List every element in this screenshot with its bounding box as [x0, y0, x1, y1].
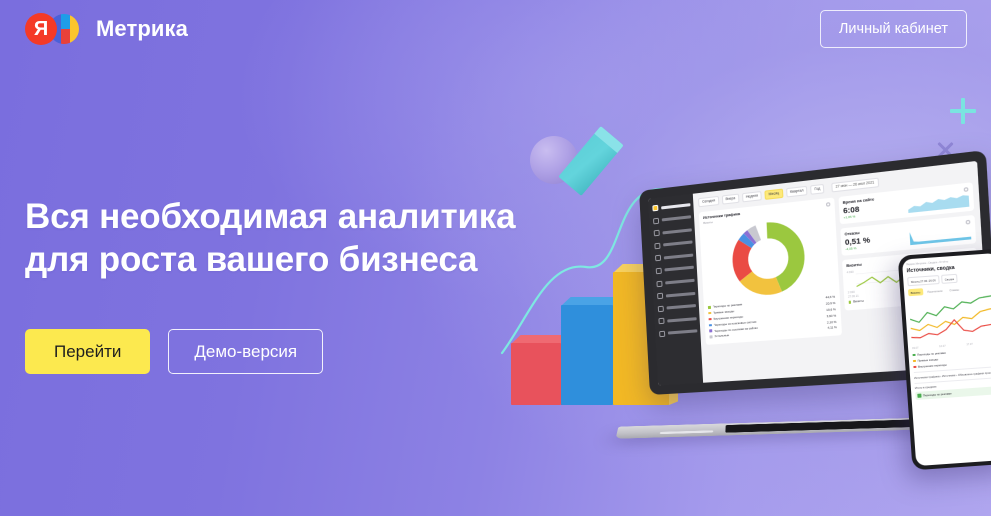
phone-tab-visits[interactable]: Визиты	[908, 288, 923, 296]
time-card-delta: +1,05 %	[843, 214, 859, 220]
goals-icon	[657, 293, 663, 300]
personal-cabinet-button[interactable]: Личный кабинет	[820, 10, 967, 48]
sidebar-item-settings[interactable]	[659, 328, 697, 337]
legend-color-swatch	[913, 360, 916, 363]
legend-color-swatch	[708, 312, 711, 315]
phone-body: Яндекс.Метрика › Сводка › Отчёты Источни…	[898, 249, 991, 471]
legend-color-swatch	[913, 366, 916, 369]
plus-mark-icon	[950, 98, 976, 124]
traffic-sources-card: Источники трафика Визиты	[699, 198, 842, 345]
date-range-picker[interactable]: 27 июн — 26 июл 2021	[831, 178, 879, 193]
traffic-legend: Переходы по рекламе 44,6 % Прямые заходы…	[708, 295, 837, 339]
summary-icon	[652, 205, 658, 212]
sidebar-item-segments[interactable]	[658, 303, 696, 312]
gear-icon	[659, 331, 665, 337]
period-tab-today[interactable]: Сегодня	[698, 196, 719, 208]
teal-block-shape-icon	[558, 126, 623, 196]
site-header: Я Метрика Личный кабинет	[0, 0, 991, 58]
sidebar-item-forms[interactable]	[655, 252, 693, 262]
phone-date-control[interactable]: Месяц 27.06–26.06	[907, 275, 939, 286]
go-button[interactable]: Перейти	[25, 329, 150, 374]
phone-tab-visitors[interactable]: Посетители	[925, 287, 946, 295]
yandex-ya-icon: Я	[25, 13, 57, 45]
visits-card-title: Визиты	[846, 263, 862, 269]
legend-color-swatch	[709, 335, 712, 338]
sphere-shape-icon	[530, 136, 578, 184]
headline-line-2: для роста вашего бизнеса	[25, 239, 515, 282]
bar-blue	[561, 305, 613, 405]
sidebar-item-summary[interactable]	[652, 201, 690, 211]
bar-red	[511, 343, 561, 405]
donut-chart	[704, 215, 835, 301]
period-tab-year[interactable]: Год	[810, 184, 825, 195]
phone-screen: Яндекс.Метрика › Сводка › Отчёты Источни…	[902, 253, 991, 466]
bounce-card-delta: -4,05 %	[845, 245, 870, 252]
forms-icon	[655, 255, 661, 262]
hero-copy: Вся необходимая аналитика для роста ваше…	[25, 196, 515, 374]
headline-line-1: Вся необходимая аналитика	[25, 197, 515, 236]
phone-view-control[interactable]: Сводка	[941, 274, 958, 284]
integrations-icon	[658, 318, 664, 324]
laptop-trackpad	[659, 430, 713, 434]
phone-line-chart	[909, 293, 991, 341]
demo-version-button[interactable]: Демо-версия	[168, 329, 323, 374]
sidebar-item-integrations[interactable]	[658, 315, 696, 324]
period-tab-yesterday[interactable]: Вчера	[721, 194, 739, 206]
card-settings-icon[interactable]	[964, 188, 969, 193]
legend-color-swatch	[709, 324, 712, 327]
budget-icon	[656, 280, 662, 287]
legend-color-swatch	[848, 301, 851, 304]
analytics-icon	[654, 230, 660, 237]
sidebar-item-webvisor[interactable]	[654, 239, 692, 249]
phone-legend: Переходы по рекламе 18 404 Прямые заходы…	[912, 347, 991, 369]
card-settings-icon[interactable]	[826, 203, 830, 208]
maps-icon	[656, 268, 662, 275]
logo-wordmark: Метрика	[96, 16, 188, 42]
visits-y-top: 4 000	[847, 271, 854, 275]
period-tab-month[interactable]: Месяц	[764, 189, 783, 201]
legend-color-swatch	[709, 318, 712, 321]
check-icon	[917, 394, 921, 398]
cta-row: Перейти Демо-версия	[25, 329, 515, 374]
sidebar-item-budget[interactable]	[656, 277, 694, 286]
period-tab-week[interactable]: Неделя	[742, 191, 763, 203]
legend-color-swatch	[912, 354, 915, 357]
page-title: Вся необходимая аналитика для роста ваше…	[25, 196, 515, 281]
segments-icon	[658, 305, 664, 311]
legend-color-swatch	[709, 330, 712, 333]
legend-color-swatch	[708, 306, 711, 309]
reports-icon	[653, 217, 659, 224]
phone-mockup: Яндекс.Метрика › Сводка › Отчёты Источни…	[898, 249, 991, 471]
hero-banner: Сегодня Вчера Неделя Месяц Квартал Год 2…	[0, 0, 991, 516]
phone-tab-bounces[interactable]: Отказы	[947, 286, 962, 294]
yandex-metrica-logo[interactable]: Я Метрика	[25, 12, 188, 46]
sidebar-item-reports[interactable]	[653, 214, 691, 224]
logo-marks: Я	[25, 12, 87, 46]
webvisor-icon	[654, 243, 660, 250]
sidebar-item-analytics[interactable]	[654, 227, 692, 237]
sidebar-item-goals[interactable]	[657, 290, 695, 299]
sidebar-item-maps[interactable]	[656, 265, 694, 275]
card-settings-icon[interactable]	[966, 220, 971, 225]
period-tab-quarter[interactable]: Квартал	[786, 186, 808, 198]
